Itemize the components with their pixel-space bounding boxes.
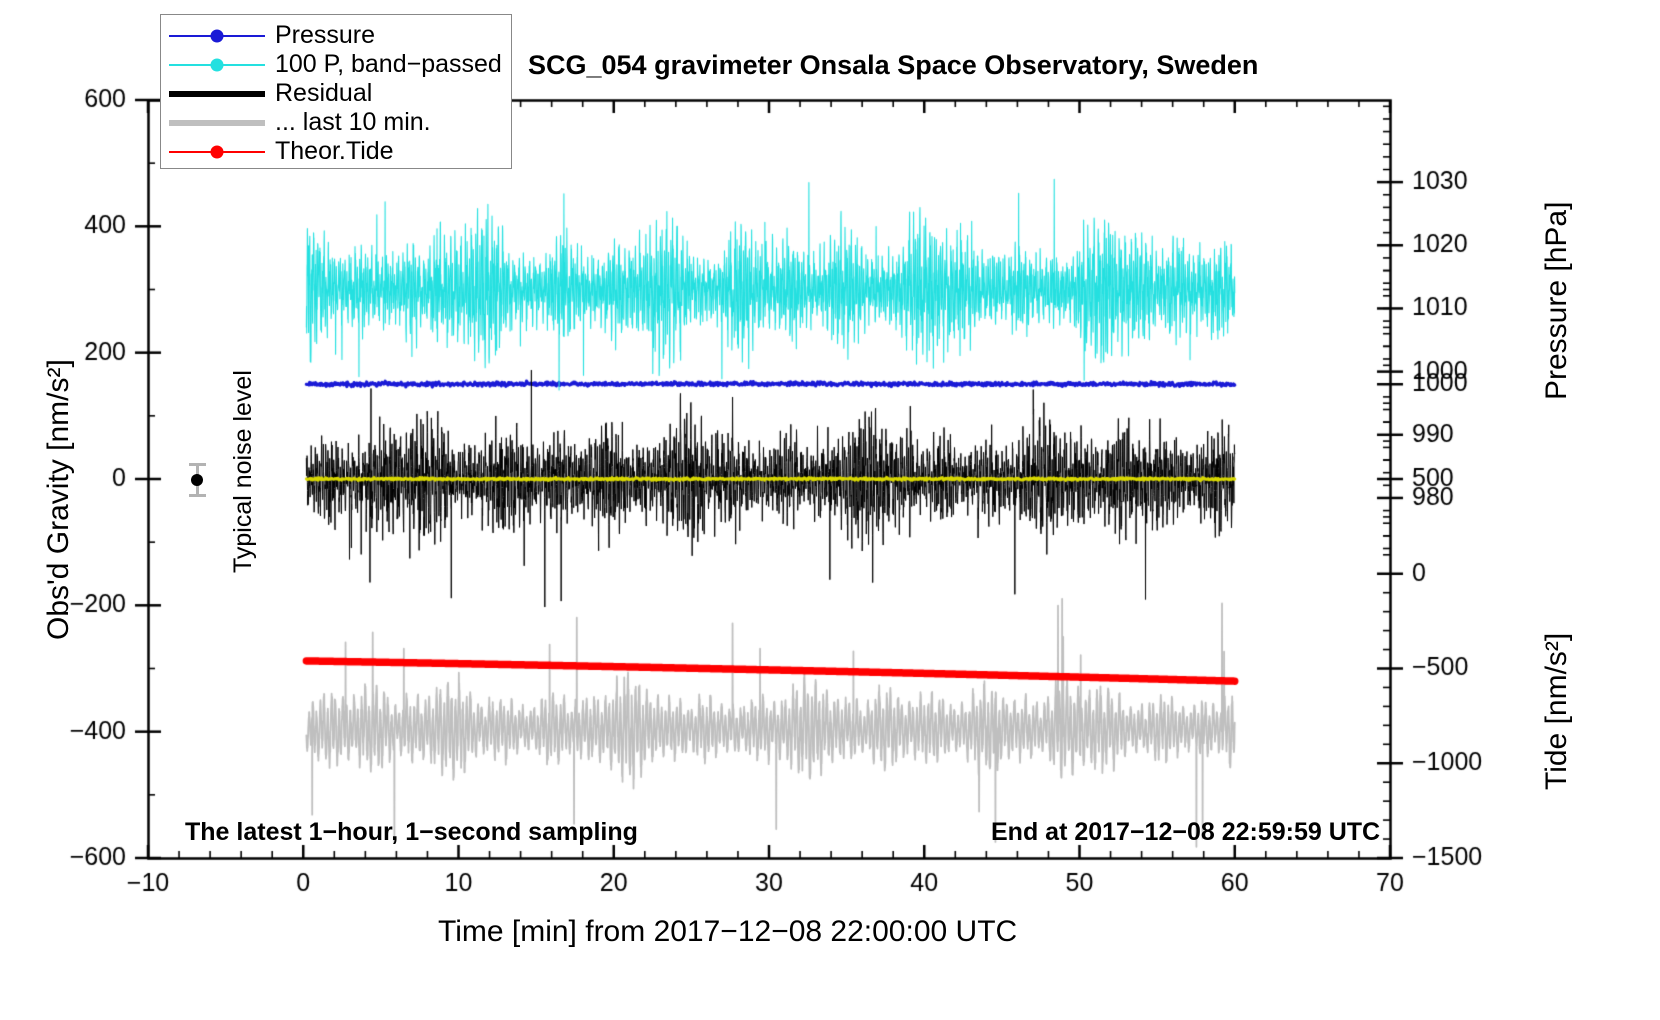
noise-error-cap-top bbox=[189, 463, 206, 466]
legend-line bbox=[169, 120, 265, 126]
legend-label: Residual bbox=[275, 79, 372, 108]
annotation-bottom-right: End at 2017−12−08 22:59:59 UTC bbox=[991, 818, 1380, 847]
y-axis-label-left: Obs'd Gravity [nm/s²] bbox=[42, 359, 76, 640]
legend-swatch-bandpassed bbox=[169, 55, 265, 75]
legend-item[interactable]: Theor.Tide bbox=[169, 137, 511, 166]
legend-label: Pressure bbox=[275, 21, 375, 50]
legend-swatch-theortide bbox=[169, 142, 265, 162]
legend-marker-dot bbox=[211, 145, 224, 158]
legend-swatch-lastten bbox=[169, 113, 265, 133]
y-axis-label-tide: Tide [nm/s²] bbox=[1540, 633, 1574, 790]
legend-line bbox=[169, 91, 265, 97]
legend-swatch-residual bbox=[169, 84, 265, 104]
legend-swatch-pressure bbox=[169, 26, 265, 46]
noise-level-marker bbox=[182, 463, 212, 497]
noise-marker-dot bbox=[191, 474, 203, 486]
legend-marker-dot bbox=[211, 58, 224, 71]
legend-item[interactable]: Pressure bbox=[169, 21, 511, 50]
chart-root: SCG_054 gravimeter Onsala Space Observat… bbox=[0, 0, 1660, 1020]
legend: Pressure 100 P, band−passed Residual ...… bbox=[160, 14, 512, 169]
legend-item[interactable]: Residual bbox=[169, 79, 511, 108]
annotation-bottom-left: The latest 1−hour, 1−second sampling bbox=[185, 818, 638, 847]
noise-level-label: Typical noise level bbox=[229, 370, 258, 573]
legend-item[interactable]: 100 P, band−passed bbox=[169, 50, 511, 79]
chart-title: SCG_054 gravimeter Onsala Space Observat… bbox=[528, 50, 1258, 81]
legend-label: Theor.Tide bbox=[275, 137, 394, 166]
legend-item[interactable]: ... last 10 min. bbox=[169, 108, 511, 137]
legend-label: ... last 10 min. bbox=[275, 108, 431, 137]
legend-label: 100 P, band−passed bbox=[275, 50, 502, 79]
x-axis-label: Time [min] from 2017−12−08 22:00:00 UTC bbox=[438, 915, 1017, 949]
y-axis-label-pressure: Pressure [hPa] bbox=[1540, 202, 1574, 400]
noise-error-cap-bottom bbox=[189, 494, 206, 497]
legend-marker-dot bbox=[211, 29, 224, 42]
